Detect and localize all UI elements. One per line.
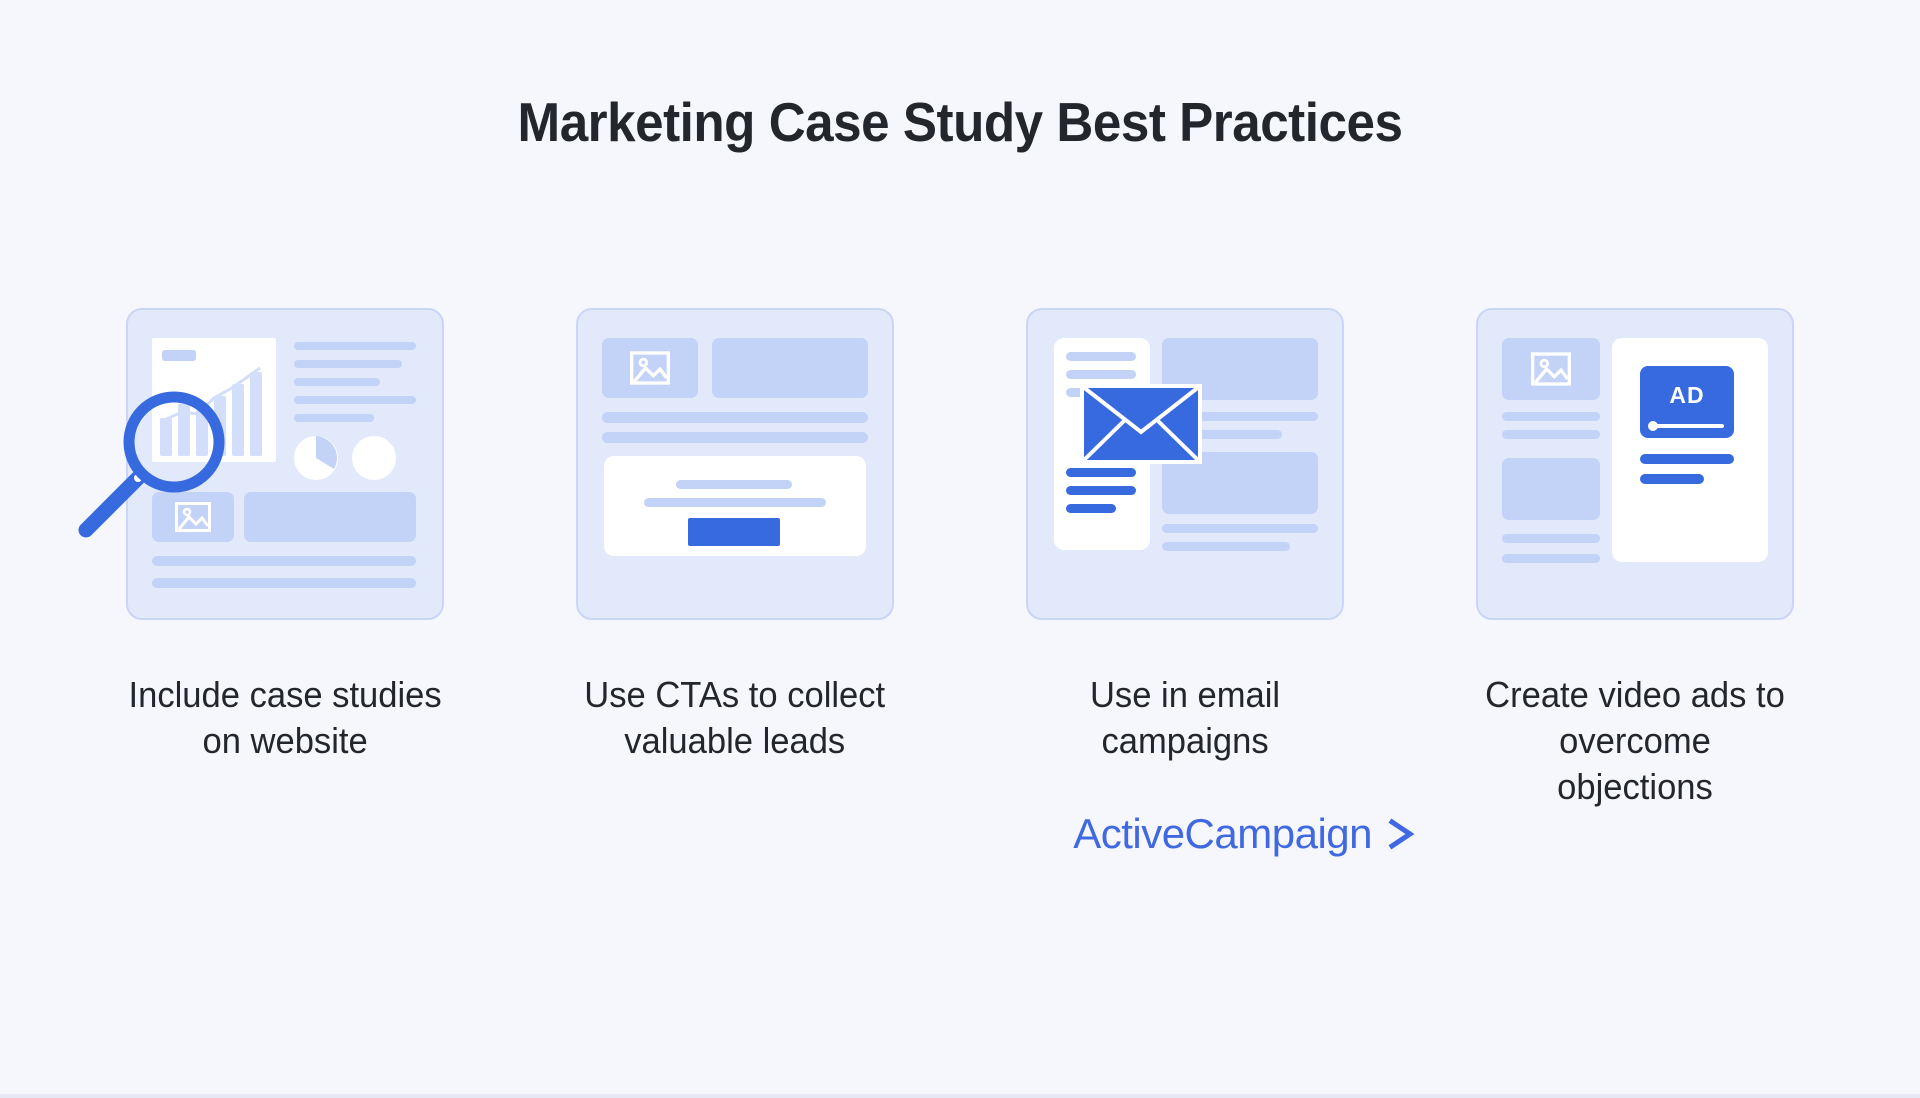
- content-block: [1502, 458, 1600, 520]
- card-caption: Use in email campaigns: [1090, 672, 1280, 764]
- text-line-accent: [1640, 474, 1704, 484]
- text-line: [294, 414, 374, 422]
- bar: [232, 384, 244, 456]
- media-block: [152, 492, 234, 542]
- illustration-landing-page-cta: [576, 308, 894, 620]
- text-line: [1066, 352, 1136, 361]
- video-progress-track[interactable]: [1650, 424, 1724, 428]
- media-block: [1502, 338, 1600, 400]
- media-block: [602, 338, 698, 398]
- text-line: [294, 396, 416, 404]
- text-line: [1162, 524, 1318, 533]
- bar: [196, 410, 208, 456]
- text-line: [294, 360, 402, 368]
- text-line: [152, 556, 416, 566]
- text-line: [1502, 430, 1600, 439]
- text-line: [676, 480, 792, 489]
- image-placeholder-icon: [175, 502, 211, 532]
- bar: [178, 404, 190, 456]
- text-line: [1502, 554, 1600, 563]
- donut-chart: [352, 436, 396, 480]
- text-line: [294, 342, 416, 350]
- text-line: [1502, 412, 1600, 421]
- content-block: [712, 338, 868, 398]
- chevron-right-icon: [1380, 814, 1420, 854]
- image-placeholder-icon: [1531, 352, 1571, 386]
- video-player[interactable]: AD: [1640, 366, 1734, 438]
- bar: [214, 396, 226, 456]
- card-use-in-email: Use in email campaigns: [1020, 308, 1350, 810]
- pie-chart: [294, 436, 338, 480]
- illustration-website-dashboard: [126, 308, 444, 620]
- card-create-video-ads: AD Create video ads to overcome objectio…: [1470, 308, 1800, 810]
- card-caption: Create video ads to overcome objections: [1477, 672, 1794, 810]
- text-line: [1502, 534, 1600, 543]
- bar: [160, 418, 172, 456]
- image-placeholder-icon: [630, 351, 670, 385]
- video-progress-knob[interactable]: [1648, 421, 1658, 431]
- text-line-accent: [1066, 504, 1116, 513]
- illustration-email-newsletter: [1026, 308, 1344, 620]
- text-line-accent: [1066, 468, 1136, 477]
- card-caption: Use CTAs to collect valuable leads: [585, 672, 886, 764]
- bar-chart: [152, 338, 276, 462]
- ad-page-panel: AD: [1612, 338, 1768, 562]
- text-line: [602, 412, 868, 423]
- activecampaign-logo[interactable]: ActiveCampaign: [1073, 810, 1420, 858]
- card-include-case-studies: Include case studies on website: [120, 308, 450, 810]
- card-caption: Include case studies on website: [128, 672, 441, 764]
- text-line-accent: [1640, 454, 1734, 464]
- cta-button[interactable]: [688, 518, 780, 546]
- envelope-icon: [1080, 384, 1202, 464]
- text-line: [644, 498, 826, 507]
- illustration-video-ad-page: AD: [1476, 308, 1794, 620]
- brand-name: ActiveCampaign: [1073, 810, 1372, 858]
- cards-row: Include case studies on website: [120, 308, 1800, 810]
- content-block: [244, 492, 416, 542]
- bottom-divider: [0, 1094, 1920, 1098]
- card-use-ctas: Use CTAs to collect valuable leads: [570, 308, 900, 810]
- infographic-canvas: Marketing Case Study Best Practices: [0, 0, 1920, 1098]
- text-line: [294, 378, 380, 386]
- ad-label: AD: [1640, 382, 1734, 409]
- cta-panel: [604, 456, 866, 556]
- bar: [250, 372, 262, 456]
- text-line: [602, 432, 868, 443]
- text-line: [1066, 370, 1136, 379]
- page-title: Marketing Case Study Best Practices: [67, 90, 1853, 154]
- text-line: [1162, 542, 1290, 551]
- text-line-accent: [1066, 486, 1136, 495]
- text-line: [152, 578, 416, 588]
